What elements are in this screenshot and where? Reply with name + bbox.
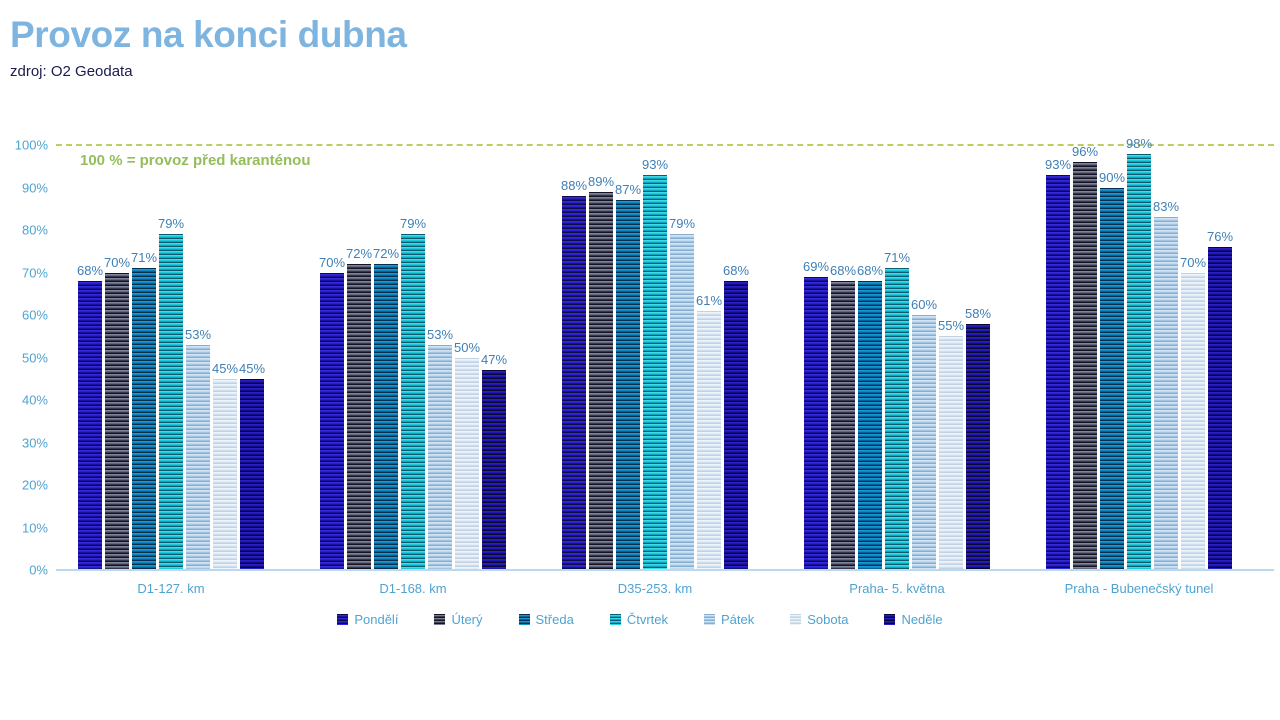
bar[interactable]: 60% [912,315,936,570]
bar-column[interactable]: 68% [858,140,882,570]
category-axis-label: Praha - Bubenečský tunel [1065,581,1214,596]
bar[interactable]: 79% [401,234,425,570]
bar[interactable]: 88% [562,196,586,570]
bar-group: 93%96%90%98%83%70%76% [1046,140,1232,570]
bar[interactable]: 98% [1127,154,1151,571]
bar-column[interactable]: 79% [670,140,694,570]
bar-value-label: 96% [1072,144,1098,159]
bar-value-label: 45% [239,361,265,376]
legend-swatch-icon [610,614,621,625]
bar[interactable]: 79% [159,234,183,570]
bar[interactable]: 93% [1046,175,1070,570]
bar-column[interactable]: 68% [831,140,855,570]
bar-value-label: 83% [1153,199,1179,214]
bar-column[interactable]: 45% [240,140,264,570]
bar-column[interactable]: 96% [1073,140,1097,570]
legend-swatch-icon [434,614,445,625]
legend-label: Čtvrtek [627,612,668,627]
bar-column[interactable]: 87% [616,140,640,570]
bar-column[interactable]: 89% [589,140,613,570]
category-axis-label: D1-168. km [379,581,446,596]
bar[interactable]: 83% [1154,217,1178,570]
legend-swatch-icon [884,614,895,625]
bar[interactable]: 58% [966,324,990,571]
bar-value-label: 53% [185,327,211,342]
bar-value-label: 72% [373,246,399,261]
bar-value-label: 87% [615,182,641,197]
bar-column[interactable]: 72% [347,140,371,570]
bar-group: 88%89%87%93%79%61%68% [562,140,748,570]
bar-column[interactable]: 60% [912,140,936,570]
legend-item[interactable]: Úterý [434,612,482,627]
bar-value-label: 76% [1207,229,1233,244]
bar-value-label: 93% [642,157,668,172]
bar[interactable]: 87% [616,200,640,570]
legend-label: Úterý [451,612,482,627]
bar[interactable]: 50% [455,358,479,571]
bar[interactable]: 68% [78,281,102,570]
bar-column[interactable]: 53% [428,140,452,570]
bar-column[interactable]: 71% [885,140,909,570]
bar-column[interactable]: 70% [105,140,129,570]
bar-value-label: 79% [669,216,695,231]
bar-column[interactable]: 58% [966,140,990,570]
bar-column[interactable]: 79% [159,140,183,570]
legend-label: Pondělí [354,612,398,627]
bar-column[interactable]: 53% [186,140,210,570]
bar[interactable]: 72% [374,264,398,570]
bar-value-label: 50% [454,340,480,355]
bar[interactable]: 70% [1181,273,1205,571]
bar[interactable]: 70% [105,273,129,571]
category-axis-label: Praha- 5. května [849,581,944,596]
bar[interactable]: 68% [858,281,882,570]
bar-column[interactable]: 93% [1046,140,1070,570]
category-axis-label: D35-253. km [618,581,692,596]
bar[interactable]: 76% [1208,247,1232,570]
bar-value-label: 68% [723,263,749,278]
bar-column[interactable]: 70% [320,140,344,570]
legend-item[interactable]: Neděle [884,612,942,627]
bar[interactable]: 72% [347,264,371,570]
bar-column[interactable]: 90% [1100,140,1124,570]
bar-column[interactable]: 79% [401,140,425,570]
legend-label: Středa [536,612,574,627]
legend-item[interactable]: Pátek [704,612,754,627]
bar[interactable]: 71% [132,268,156,570]
bar-value-label: 55% [938,318,964,333]
bar-group: 69%68%68%71%60%55%58% [804,140,990,570]
bar[interactable]: 45% [213,379,237,570]
legend-item[interactable]: Středa [519,612,574,627]
bar-value-label: 69% [803,259,829,274]
legend: PondělíÚterýStředaČtvrtekPátekSobotaNedě… [0,612,1280,627]
bar-value-label: 68% [830,263,856,278]
bar[interactable]: 53% [186,345,210,570]
legend-item[interactable]: Čtvrtek [610,612,668,627]
bar-column[interactable]: 76% [1208,140,1232,570]
bar-value-label: 72% [346,246,372,261]
bar-group: 68%70%71%79%53%45%45% [78,140,264,570]
bar[interactable]: 68% [724,281,748,570]
legend-swatch-icon [519,614,530,625]
bar-column[interactable]: 98% [1127,140,1151,570]
legend-item[interactable]: Pondělí [337,612,398,627]
bar[interactable]: 69% [804,277,828,570]
bar[interactable]: 55% [939,336,963,570]
bar-value-label: 71% [884,250,910,265]
bar-column[interactable]: 88% [562,140,586,570]
bar[interactable]: 89% [589,192,613,570]
bar-column[interactable]: 61% [697,140,721,570]
bar[interactable]: 53% [428,345,452,570]
bar-column[interactable]: 47% [482,140,506,570]
bar-value-label: 68% [857,263,883,278]
bar[interactable]: 47% [482,370,506,570]
legend-label: Neděle [901,612,942,627]
bar-column[interactable]: 83% [1154,140,1178,570]
legend-swatch-icon [337,614,348,625]
bar-column[interactable]: 69% [804,140,828,570]
bar-column[interactable]: 68% [78,140,102,570]
bar-value-label: 79% [400,216,426,231]
bar-value-label: 89% [588,174,614,189]
bar-value-label: 58% [965,306,991,321]
bar[interactable]: 79% [670,234,694,570]
bar-column[interactable]: 93% [643,140,667,570]
bar-column[interactable]: 70% [1181,140,1205,570]
bar[interactable]: 71% [885,268,909,570]
bar[interactable]: 96% [1073,162,1097,570]
bar-value-label: 60% [911,297,937,312]
legend-swatch-icon [704,614,715,625]
bar-value-label: 70% [104,255,130,270]
bar-column[interactable]: 50% [455,140,479,570]
bar[interactable]: 68% [831,281,855,570]
legend-item[interactable]: Sobota [790,612,848,627]
bar-value-label: 70% [1180,255,1206,270]
bar-value-label: 68% [77,263,103,278]
bar-column[interactable]: 45% [213,140,237,570]
bar[interactable]: 90% [1100,188,1124,571]
bar-value-label: 93% [1045,157,1071,172]
bar-value-label: 70% [319,255,345,270]
bar-value-label: 53% [427,327,453,342]
legend-label: Sobota [807,612,848,627]
bar-value-label: 45% [212,361,238,376]
bar-column[interactable]: 55% [939,140,963,570]
bar-column[interactable]: 68% [724,140,748,570]
bar-value-label: 90% [1099,170,1125,185]
category-axis-label: D1-127. km [137,581,204,596]
legend-label: Pátek [721,612,754,627]
bar-column[interactable]: 72% [374,140,398,570]
bar-value-label: 61% [696,293,722,308]
bar-value-label: 98% [1126,136,1152,151]
bar[interactable]: 93% [643,175,667,570]
bar-group: 70%72%72%79%53%50%47% [320,140,506,570]
bar[interactable]: 61% [697,311,721,570]
bar-value-label: 47% [481,352,507,367]
bar[interactable]: 45% [240,379,264,570]
bar-value-label: 88% [561,178,587,193]
bar-column[interactable]: 71% [132,140,156,570]
bar-value-label: 79% [158,216,184,231]
axis-baseline [56,569,1274,571]
bar[interactable]: 70% [320,273,344,571]
bar-value-label: 71% [131,250,157,265]
legend-swatch-icon [790,614,801,625]
